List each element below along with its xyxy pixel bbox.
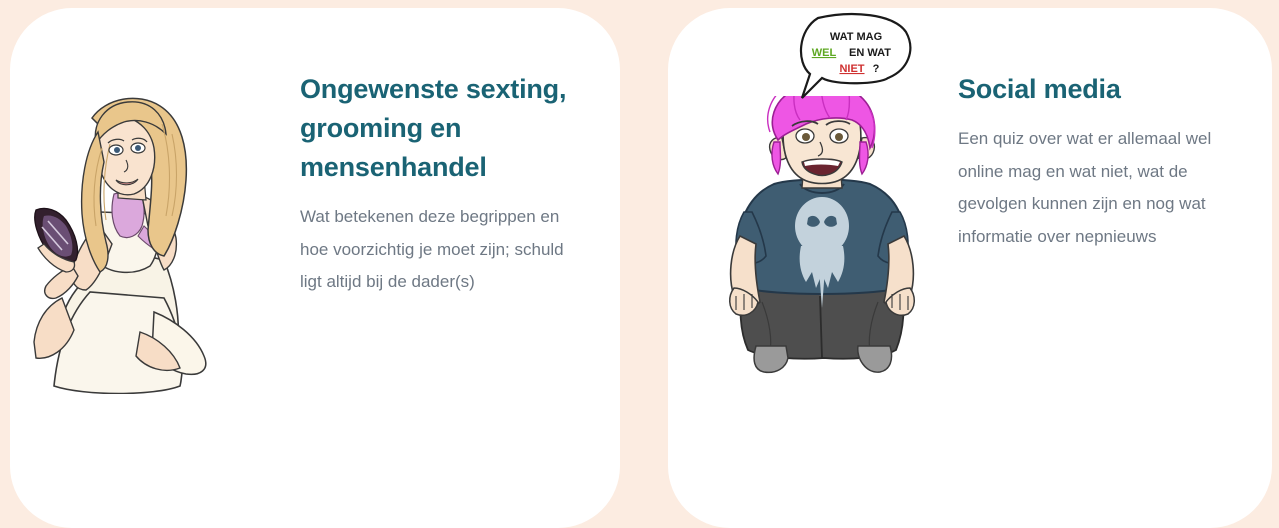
card-ongewenste-sexting[interactable]: Ongewenste sexting, grooming en mensenha…: [10, 8, 620, 528]
bubble-line-2-rest: EN WAT: [849, 47, 891, 59]
card-description: Een quiz over wat er allemaal wel online…: [958, 123, 1230, 253]
cards-row: Ongewenste sexting, grooming en mensenha…: [0, 0, 1279, 483]
card-title: Social media: [958, 70, 1238, 109]
card-text-block: Ongewenste sexting, grooming en mensenha…: [300, 8, 620, 299]
bubble-word-niet: NIET: [839, 63, 864, 75]
pink-haired-teen-icon: [700, 96, 950, 396]
card-social-media[interactable]: WAT MAG WEL EN WAT NIET ? Social media E…: [668, 8, 1272, 528]
bubble-question-mark: ?: [873, 63, 880, 75]
card-illustration-pink-haired-teen: WAT MAG WEL EN WAT NIET ?: [668, 8, 958, 528]
card-description: Wat betekenen deze begrippen en hoe voor…: [300, 201, 568, 299]
speech-bubble: WAT MAG WEL EN WAT NIET ?: [796, 12, 916, 112]
card-text-block: Social media Een quiz over wat er allema…: [958, 8, 1272, 253]
bubble-line-1: WAT MAG: [830, 31, 882, 43]
girl-with-phone-icon: [14, 84, 224, 394]
card-title: Ongewenste sexting, grooming en mensenha…: [300, 70, 586, 187]
bubble-word-wel: WEL: [812, 47, 837, 59]
card-illustration-girl-with-phone: [10, 8, 300, 528]
